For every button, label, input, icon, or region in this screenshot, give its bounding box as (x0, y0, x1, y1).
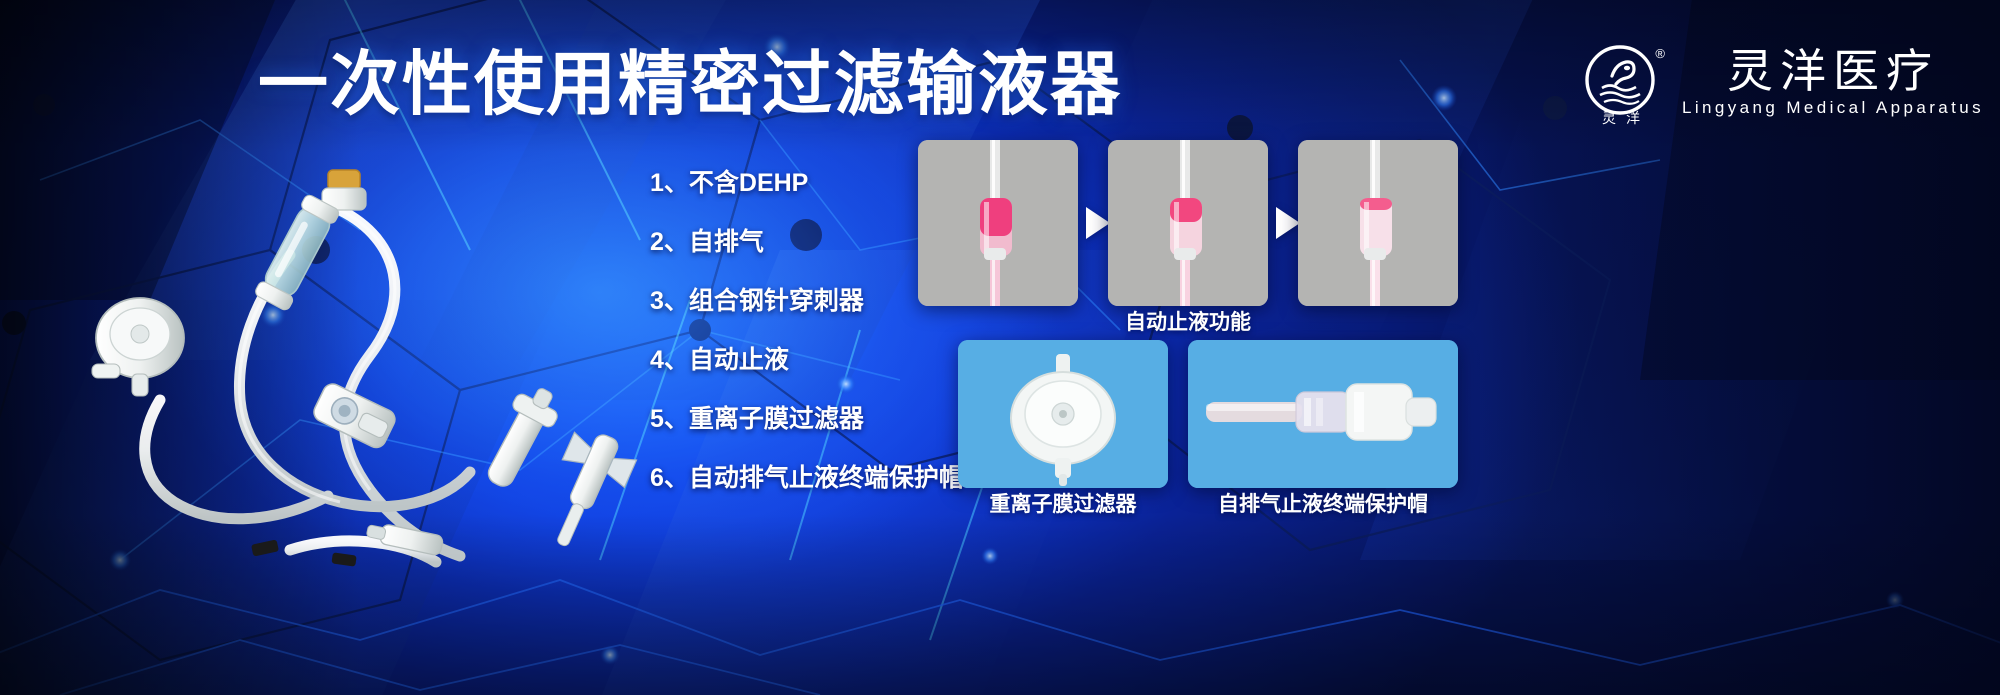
component-caption-cap: 自排气止液终端保护帽 (1188, 492, 1458, 518)
component-caption-filter: 重离子膜过滤器 (958, 492, 1168, 518)
demo-arrow-2-icon (1276, 207, 1300, 239)
feature-item-4: 4、自动止液 (650, 345, 980, 375)
component-panel-filter (958, 340, 1168, 488)
demo-frame-3 (1298, 140, 1458, 306)
demo-frame-2 (1108, 140, 1268, 306)
demo-frame-1 (918, 140, 1078, 306)
component-panel-cap (1188, 340, 1458, 488)
page-title: 一次性使用精密过滤输液器 (258, 46, 1122, 122)
product-photo (40, 150, 660, 570)
brand-name-cn: 灵洋医疗 (1727, 45, 1939, 97)
feature-item-5: 5、重离子膜过滤器 (650, 404, 980, 434)
demo-sequence-caption: 自动止液功能 (1108, 310, 1268, 336)
brand-name-en: Lingyang Medical Apparatus (1682, 97, 1984, 119)
brand-wordmark: 灵洋医疗 Lingyang Medical Apparatus (1682, 45, 1984, 119)
product-banner: 一次性使用精密过滤输液器 ® 灵洋 灵洋医疗 Lingyang Medical … (0, 0, 2000, 695)
demo-arrow-1-icon (1086, 207, 1110, 239)
lingyang-emblem-icon: ® 灵洋 (1582, 42, 1662, 122)
registered-trademark-icon: ® (1655, 46, 1665, 61)
brand-logo: ® 灵洋 灵洋医疗 Lingyang Medical Apparatus (1582, 42, 1984, 122)
feature-item-6: 6、自动排气止液终端保护帽 (650, 463, 980, 493)
emblem-caption: 灵洋 (1586, 108, 1666, 128)
